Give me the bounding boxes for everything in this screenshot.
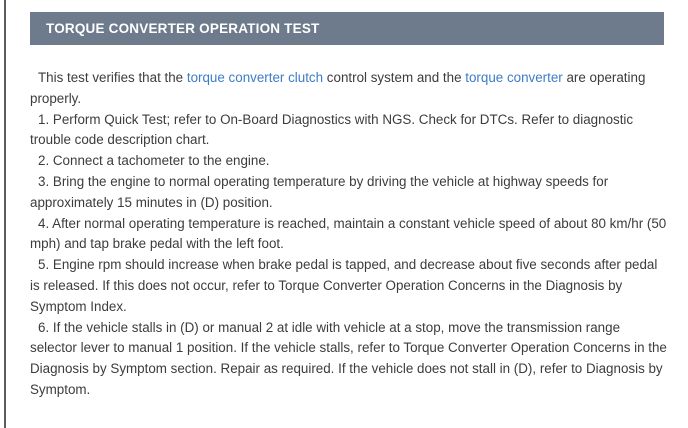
document-content: TORQUE CONVERTER OPERATION TEST This tes…	[6, 0, 688, 428]
link-torque-converter-clutch[interactable]: torque converter clutch	[187, 70, 323, 85]
intro-text-before-link: This test verifies that the	[38, 70, 187, 85]
intro-text-between-links: control system and the	[323, 70, 465, 85]
section-title: TORQUE CONVERTER OPERATION TEST	[46, 22, 319, 36]
section-header-bar: TORQUE CONVERTER OPERATION TEST	[30, 12, 664, 45]
intro-paragraph: This test verifies that the torque conve…	[30, 68, 670, 110]
procedure-step-3: 3. Bring the engine to normal operating …	[30, 172, 670, 214]
procedure-step-1: 1. Perform Quick Test; refer to On-Board…	[30, 110, 670, 152]
document-page: TORQUE CONVERTER OPERATION TEST This tes…	[0, 0, 688, 428]
procedure-step-2: 2. Connect a tachometer to the engine.	[30, 151, 670, 172]
procedure-step-4: 4. After normal operating temperature is…	[30, 214, 670, 256]
procedure-step-6: 6. If the vehicle stalls in (D) or manua…	[30, 318, 670, 401]
procedure-step-5: 5. Engine rpm should increase when brake…	[30, 255, 670, 317]
link-torque-converter[interactable]: torque converter	[465, 70, 563, 85]
procedure-body: This test verifies that the torque conve…	[30, 68, 670, 401]
